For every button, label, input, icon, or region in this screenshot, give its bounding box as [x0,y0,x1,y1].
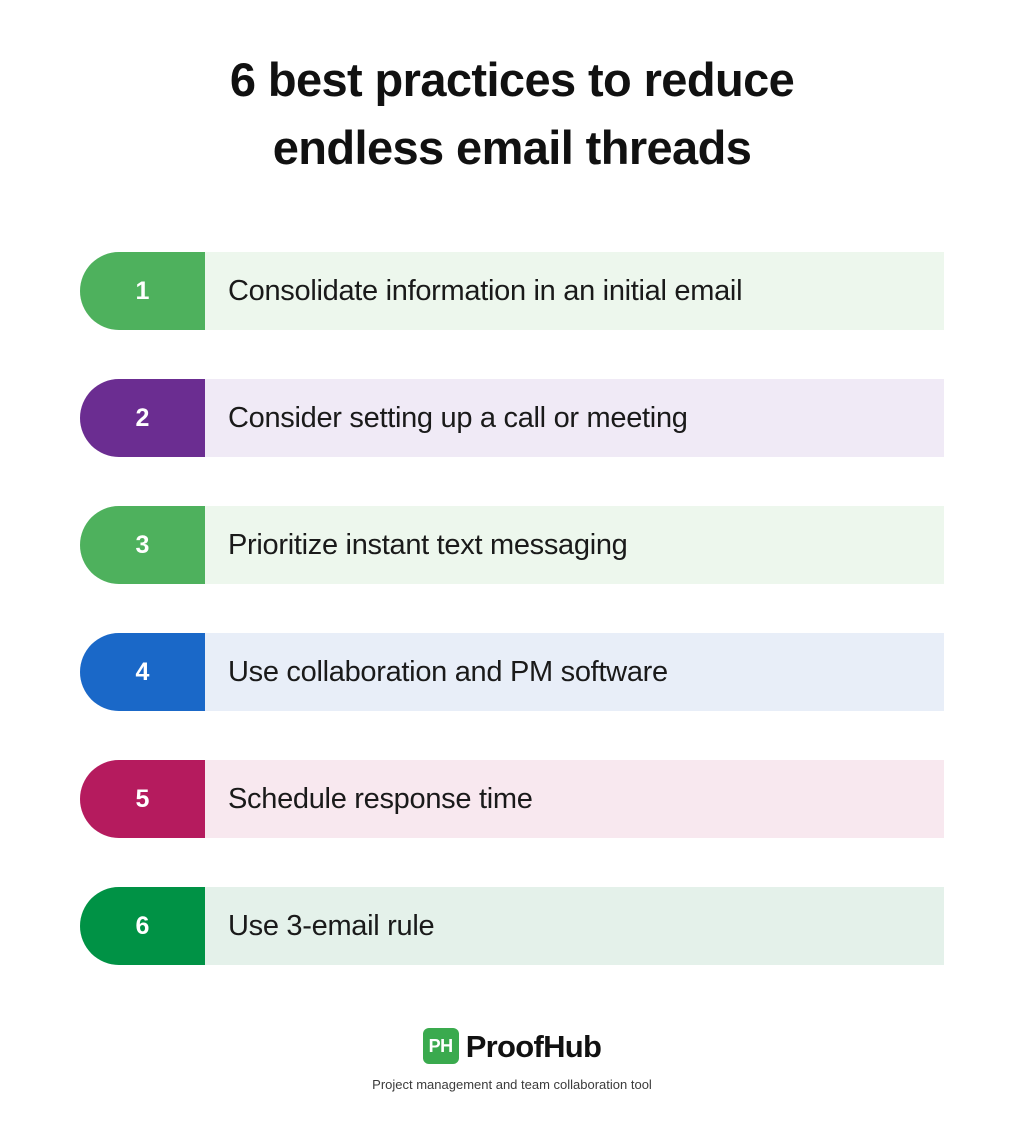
list-item-number-badge: 2 [80,379,205,457]
list-item: 6 Use 3-email rule [80,887,944,965]
list-item-label: Schedule response time [205,760,944,838]
list-item-number: 5 [136,787,150,812]
list-item-label: Prioritize instant text messaging [205,506,944,584]
list-item: 2 Consider setting up a call or meeting [80,379,944,457]
proofhub-logo-icon: PH [423,1028,459,1064]
list-item-label: Use collaboration and PM software [205,633,944,711]
list-item-number: 6 [136,914,150,939]
list-item-number: 2 [136,406,150,431]
brand-monogram: PH [429,1037,453,1055]
list-item-label: Consider setting up a call or meeting [205,379,944,457]
list-item-number-badge: 3 [80,506,205,584]
list-item-number: 4 [136,660,150,685]
list-item: 3 Prioritize instant text messaging [80,506,944,584]
footer: PH ProofHub Project management and team … [0,1028,1024,1092]
list-item-label: Consolidate information in an initial em… [205,252,944,330]
list-item-number-badge: 1 [80,252,205,330]
list-item-number: 1 [136,279,150,304]
list-item: 4 Use collaboration and PM software [80,633,944,711]
brand-logo: PH ProofHub [423,1028,602,1064]
list-item-number-badge: 5 [80,760,205,838]
brand-name: ProofHub [466,1031,602,1062]
list-item-number-badge: 6 [80,887,205,965]
brand-tagline: Project management and team collaboratio… [372,1077,652,1092]
list-item-number-badge: 4 [80,633,205,711]
list-item-number: 3 [136,533,150,558]
list-item-label: Use 3-email rule [205,887,944,965]
page-title-line-1: 6 best practices to reduce [0,46,1024,114]
list-item: 1 Consolidate information in an initial … [80,252,944,330]
page-title-line-2: endless email threads [0,114,1024,182]
page-title: 6 best practices to reduce endless email… [0,0,1024,182]
infographic-canvas: 6 best practices to reduce endless email… [0,0,1024,1125]
best-practices-list: 1 Consolidate information in an initial … [80,252,944,965]
list-item: 5 Schedule response time [80,760,944,838]
